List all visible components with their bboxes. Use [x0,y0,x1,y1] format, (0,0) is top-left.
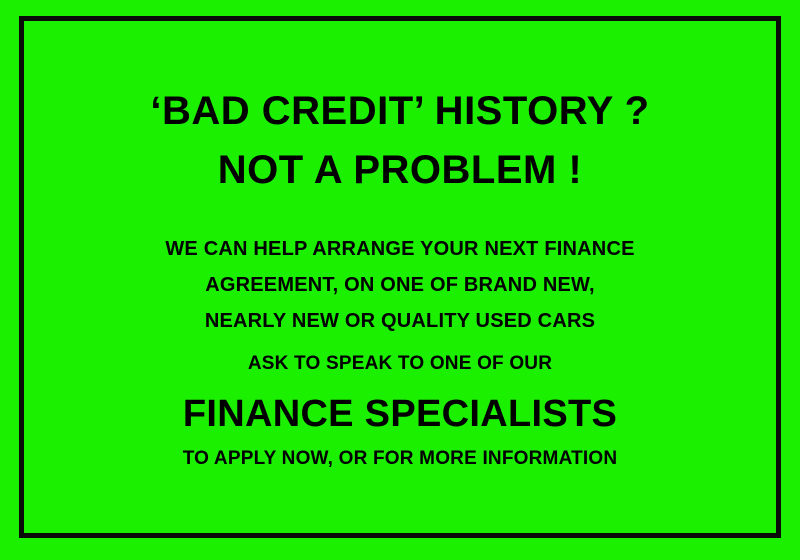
cta-headline-finance-specialists: FINANCE SPECIALISTS [24,395,776,433]
headline-block: ‘BAD CREDIT’ HISTORY ? NOT A PROBLEM ! [24,91,776,190]
headline-line-2: NOT A PROBLEM ! [24,150,776,190]
advertisement-poster: ‘BAD CREDIT’ HISTORY ? NOT A PROBLEM ! W… [0,0,800,560]
poster-content: ‘BAD CREDIT’ HISTORY ? NOT A PROBLEM ! W… [24,21,776,533]
call-to-action-block: ASK TO SPEAK TO ONE OF OUR FINANCE SPECI… [24,354,776,468]
cta-lead-text: ASK TO SPEAK TO ONE OF OUR [24,354,776,373]
body-line-3: NEARLY NEW OR QUALITY USED CARS [24,311,776,331]
cta-tail-text: TO APPLY NOW, OR FOR MORE INFORMATION [24,449,776,468]
headline-line-1: ‘BAD CREDIT’ HISTORY ? [24,91,776,131]
body-copy-block: WE CAN HELP ARRANGE YOUR NEXT FINANCE AG… [24,239,776,331]
body-line-1: WE CAN HELP ARRANGE YOUR NEXT FINANCE [24,239,776,259]
body-line-2: AGREEMENT, ON ONE OF BRAND NEW, [24,275,776,295]
